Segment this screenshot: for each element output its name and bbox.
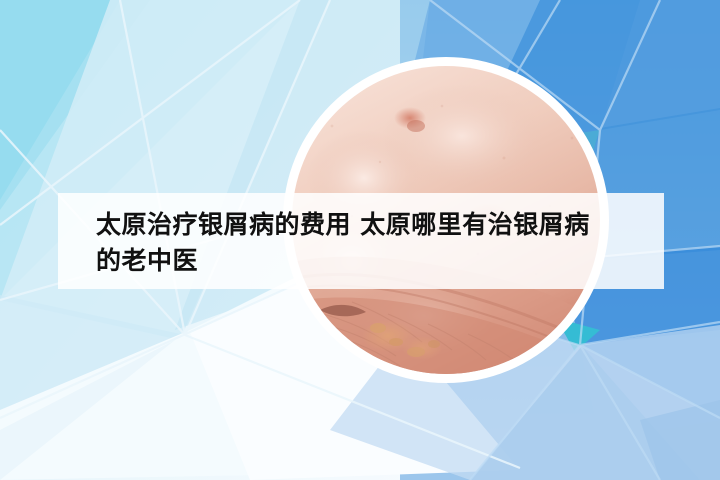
banner-canvas: 太原治疗银屑病的费用 太原哪里有治银屑病 的老中医 xyxy=(0,0,720,480)
caption-band: 太原治疗银屑病的费用 太原哪里有治银屑病 的老中医 xyxy=(58,193,664,289)
caption-line-2: 的老中医 xyxy=(96,243,664,279)
caption-line-1: 太原治疗银屑病的费用 太原哪里有治银屑病 xyxy=(96,207,664,243)
